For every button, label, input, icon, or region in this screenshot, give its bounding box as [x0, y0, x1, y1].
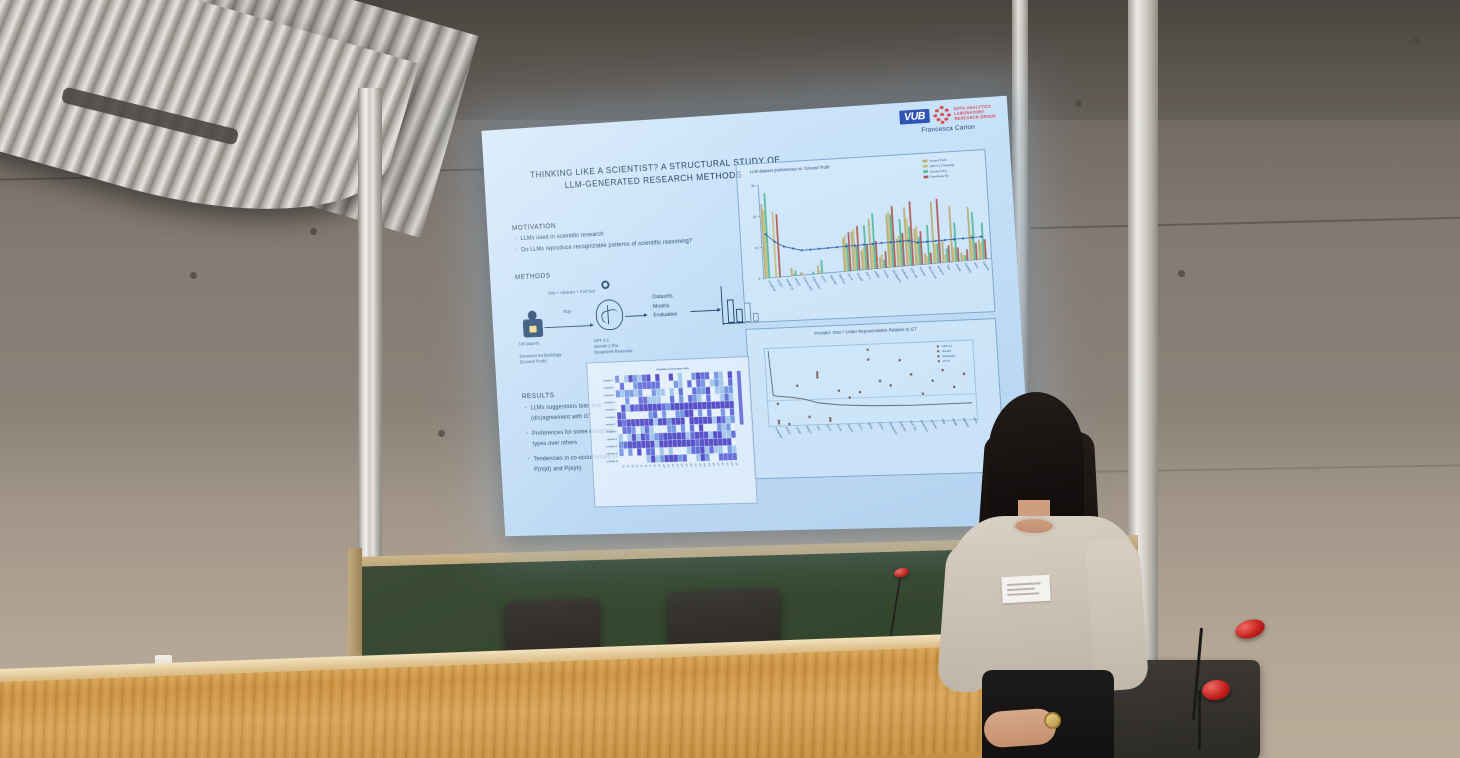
svg-text:metadata 8: metadata 8 [606, 430, 617, 433]
svg-text:d8: d8 [653, 464, 656, 468]
svg-text:Gemini: Gemini [942, 349, 952, 353]
svg-text:GLUE: GLUE [836, 423, 843, 432]
svg-text:Gemini 2 Pro: Gemini 2 Pro [930, 168, 948, 173]
svg-text:Amazon: Amazon [936, 265, 945, 277]
svg-text:CoNLL: CoNLL [882, 269, 890, 279]
svg-text:d7: d7 [648, 464, 651, 468]
svg-text:AudioSet: AudioSet [900, 268, 909, 280]
presenter-person [940, 392, 1145, 758]
svg-text:d26: d26 [734, 462, 737, 467]
photo-scene: VUB DATA ANALYTICS LABORATORY RESEARCH G… [0, 0, 1460, 758]
wall-fixture [1075, 100, 1082, 107]
svg-text:d6: d6 [644, 465, 647, 469]
output-item: Datasets [649, 292, 677, 302]
svg-text:d24: d24 [725, 462, 728, 467]
svg-text:LibriSpeech: LibriSpeech [888, 421, 899, 436]
svg-text:d3: d3 [630, 465, 633, 469]
svg-text:10: 10 [755, 246, 759, 250]
svg-text:metadata 12: metadata 12 [607, 460, 619, 463]
svg-text:metadata 5: metadata 5 [605, 408, 616, 411]
svg-text:d14: d14 [680, 464, 683, 469]
brain-icon [595, 299, 624, 331]
svg-text:PubMed: PubMed [964, 262, 973, 274]
svg-text:GPT-4.1 (Thinking): GPT-4.1 (Thinking) [930, 163, 955, 169]
model-label: DeepSeek Reasoner [594, 348, 633, 355]
svg-text:IMDB: IMDB [874, 270, 881, 278]
flow-label-mid: RQs [563, 309, 571, 315]
section-motivation: MOTIVATION LLMs used in scientific resea… [512, 212, 727, 258]
svg-text:GPT-4.1: GPT-4.1 [942, 344, 953, 349]
svg-text:metadata 3: metadata 3 [604, 394, 615, 397]
svg-text:d5: d5 [639, 465, 642, 469]
svg-text:metadata 9: metadata 9 [606, 438, 617, 441]
svg-text:d25: d25 [730, 462, 733, 467]
svg-text:d2: d2 [626, 465, 629, 469]
svg-text:Kinetics: Kinetics [918, 266, 927, 277]
methods-outputs: Datasets Models Evaluation [649, 292, 678, 321]
wall-fixture [190, 272, 197, 279]
svg-text:metadata 1: metadata 1 [603, 379, 614, 382]
svg-text:Deepseek: Deepseek [942, 354, 955, 359]
gear-icon [601, 280, 610, 289]
arm [1085, 536, 1149, 691]
researcher-icon [522, 310, 543, 337]
svg-text:ImageNet: ImageNet [774, 427, 783, 439]
svg-text:Custom: Custom [982, 261, 991, 272]
svg-text:d1: d1 [622, 465, 625, 469]
svg-text:d9: d9 [657, 464, 660, 468]
arrow-icon [625, 315, 647, 317]
svg-text:CIFAR: CIFAR [795, 426, 802, 435]
svg-text:d11: d11 [666, 464, 669, 469]
svg-text:d13: d13 [675, 464, 678, 469]
svg-text:SQuAD: SQuAD [846, 423, 854, 433]
dal-logo-text: DATA ANALYTICS LABORATORY RESEARCH GROUP [954, 103, 997, 121]
svg-text:MNIST: MNIST [805, 425, 813, 435]
arrow-icon [691, 310, 721, 312]
svg-text:KITTI: KITTI [826, 424, 833, 432]
svg-text:d22: d22 [716, 463, 719, 468]
svg-text:d10: d10 [662, 464, 665, 469]
svg-text:20: 20 [753, 215, 757, 219]
svg-text:ADE20K: ADE20K [829, 274, 838, 286]
svg-text:30: 30 [751, 184, 755, 188]
wall-fixture [438, 430, 445, 437]
svg-text:SQuAD: SQuAD [856, 272, 864, 282]
methods-diagram: Title + Abstract + Full Text RQs Dataset… [515, 275, 756, 360]
svg-text:SST-2: SST-2 [857, 422, 864, 431]
svg-text:Reddit: Reddit [955, 263, 963, 272]
svg-text:GLUE: GLUE [847, 273, 854, 282]
svg-text:d12: d12 [671, 464, 674, 469]
svg-text:SST-2: SST-2 [865, 271, 873, 280]
wall-fixture [310, 228, 317, 235]
svg-text:metadata 11: metadata 11 [606, 452, 618, 455]
input-label: (Ground Truth) [520, 359, 547, 366]
svg-text:d16: d16 [689, 463, 692, 468]
svg-text:metadata 2: metadata 2 [603, 386, 614, 389]
svg-text:metadata 4: metadata 4 [604, 401, 615, 404]
svg-text:GT %: GT % [943, 359, 951, 363]
name-badge [1001, 575, 1050, 603]
chart-panel-heatmap: metadata 1metadata 2metadata 3metadata 4… [586, 356, 758, 508]
svg-text:KITTI: KITTI [820, 275, 827, 283]
chart-panel-bar: LLM dataset preferences vs. Ground Truth… [735, 149, 995, 323]
svg-text:DeepSeek R1: DeepSeek R1 [930, 174, 949, 179]
vub-logo: VUB [899, 108, 930, 124]
dal-logo-icon [933, 105, 951, 123]
svg-text:d17: d17 [693, 463, 696, 468]
input-label: 100 papers [519, 341, 540, 348]
heatmap-svg: metadata 1metadata 2metadata 3metadata 4… [587, 357, 759, 509]
structural-pillar-left [358, 88, 382, 588]
svg-text:d15: d15 [684, 463, 687, 468]
svg-text:d20: d20 [707, 463, 710, 468]
svg-text:ImageNet: ImageNet [768, 280, 778, 293]
svg-text:metadata 6: metadata 6 [605, 416, 616, 419]
svg-text:Metadata co-occurrence matrix: Metadata co-occurrence matrix [656, 367, 690, 371]
svg-text:COCO: COCO [776, 279, 784, 289]
bar-chart-svg: 0102030ImageNetCOCOCIFAR-10MNISTPascal V… [736, 150, 996, 324]
svg-text:d18: d18 [698, 463, 701, 468]
svg-text:metadata 7: metadata 7 [606, 423, 617, 426]
flow-label-top: Title + Abstract + Full Text [548, 289, 596, 297]
svg-text:ArXiv: ArXiv [973, 261, 980, 270]
wristwatch [1044, 712, 1061, 729]
output-item: Evaluation [650, 311, 678, 321]
svg-text:MovieLens: MovieLens [927, 265, 938, 279]
svg-text:0: 0 [758, 277, 760, 281]
microphone-stem [1198, 690, 1201, 750]
svg-text:d4: d4 [635, 465, 638, 469]
wall-fixture [1178, 270, 1185, 277]
svg-text:d21: d21 [712, 463, 715, 468]
arrow-icon [545, 325, 593, 328]
svg-text:COCO: COCO [785, 426, 792, 435]
svg-text:Yelp: Yelp [946, 264, 952, 271]
svg-text:d23: d23 [721, 462, 724, 467]
section-methods: METHODS Title + Abstract + Full Text RQs… [515, 261, 756, 361]
svg-text:CIFAR-10: CIFAR-10 [785, 278, 795, 291]
svg-text:VOC: VOC [815, 424, 821, 431]
brand-header: VUB DATA ANALYTICS LABORATORY RESEARCH G… [899, 102, 997, 135]
svg-text:WikiText: WikiText [838, 273, 847, 284]
wall-fixture [1413, 36, 1420, 43]
svg-text:d19: d19 [703, 463, 706, 468]
svg-text:MNIST: MNIST [794, 277, 802, 287]
collar [1012, 516, 1056, 536]
svg-text:UCF-101: UCF-101 [909, 267, 919, 279]
svg-text:metadata 10: metadata 10 [606, 445, 618, 448]
svg-text:Ground Truth: Ground Truth [929, 158, 947, 163]
